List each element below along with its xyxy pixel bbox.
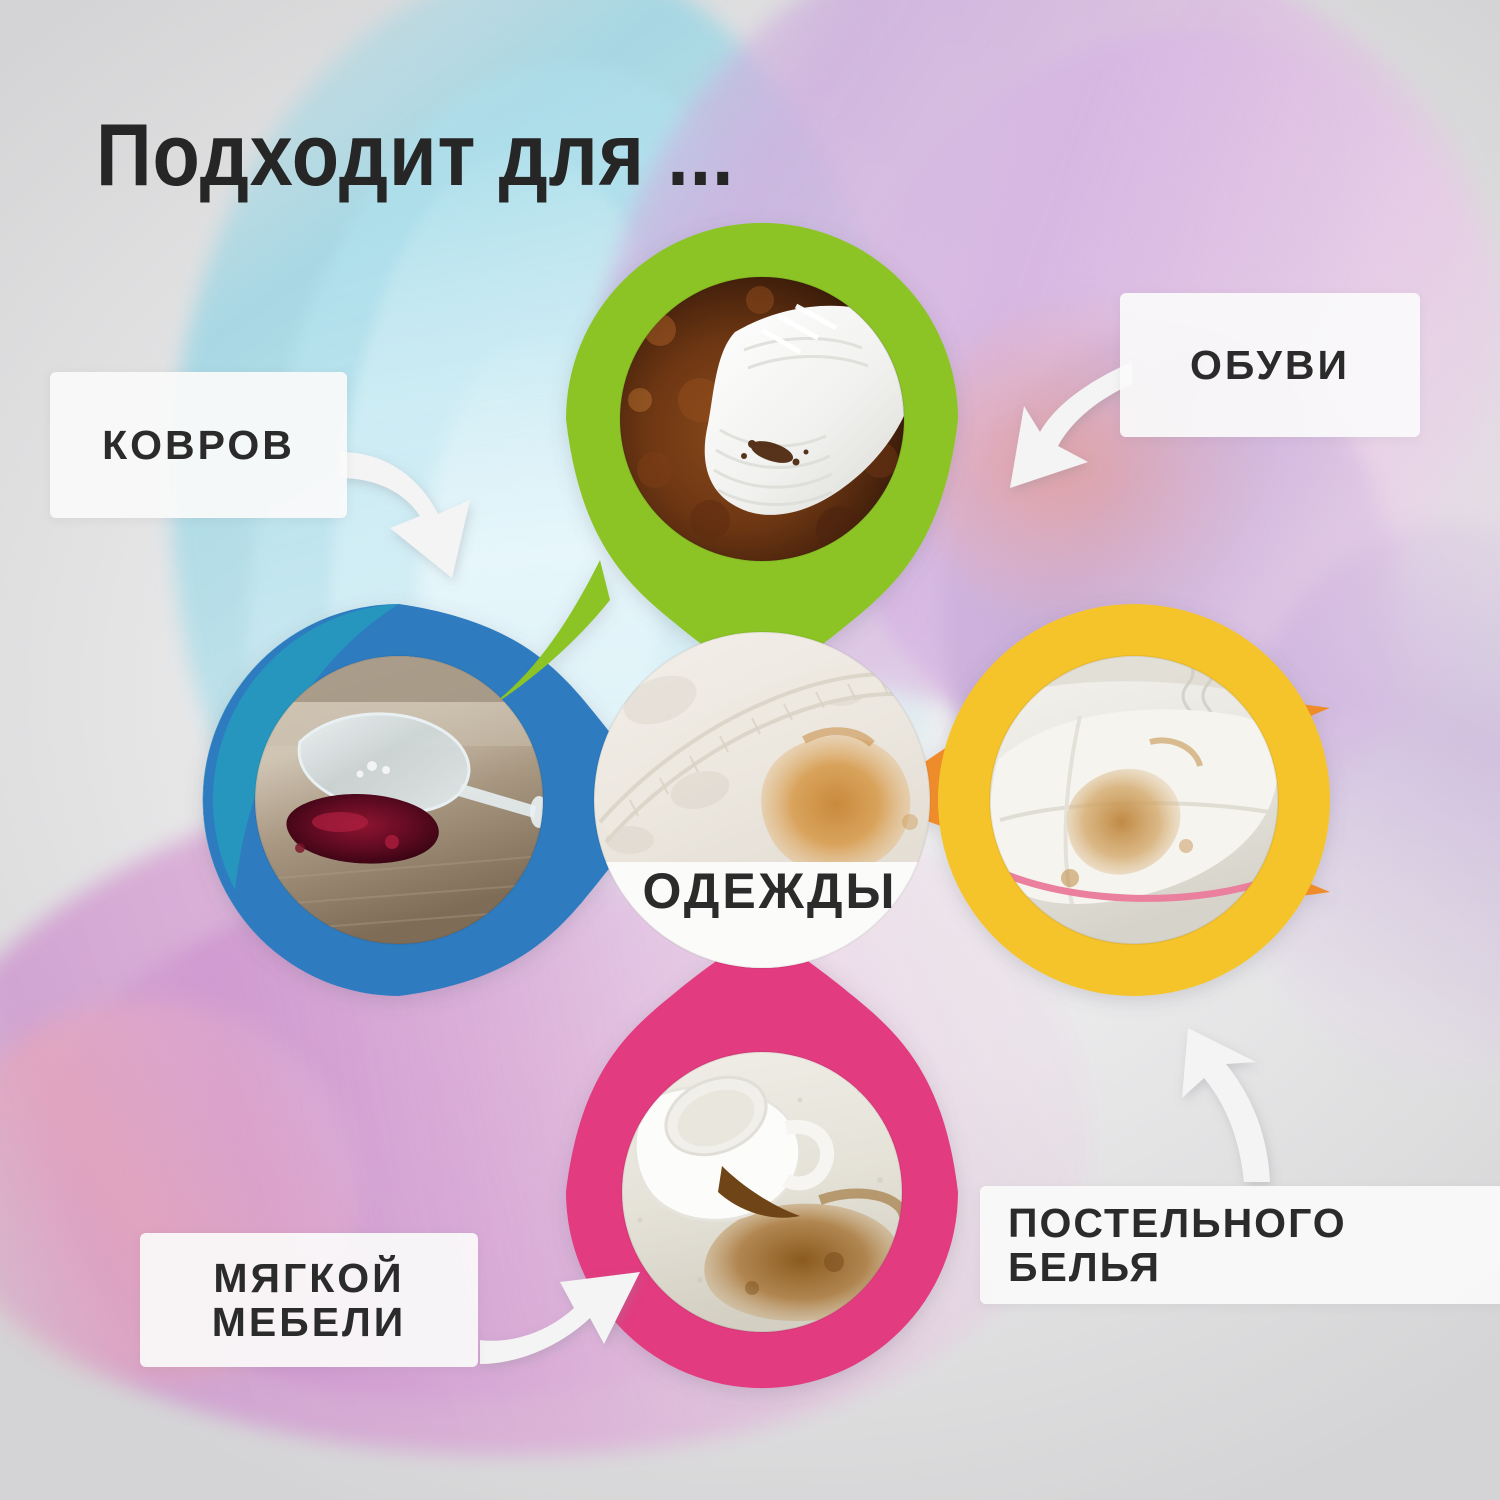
shoes-arrow xyxy=(1010,362,1132,488)
label-bedding-line1: ПОСТЕЛЬНОГО xyxy=(1008,1201,1347,1245)
carpets-arrow xyxy=(340,452,470,578)
label-furniture-line1: МЯГКОЙ xyxy=(212,1256,407,1300)
label-furniture-line2: МЕБЕЛИ xyxy=(212,1300,407,1344)
label-clothes: ОДЕЖДЫ xyxy=(620,862,920,920)
label-bedding[interactable]: ПОСТЕЛЬНОГО БЕЛЬЯ xyxy=(980,1186,1500,1304)
infographic-canvas: Подходит для ... xyxy=(0,0,1500,1500)
label-clothes-text: ОДЕЖДЫ xyxy=(643,863,898,919)
label-furniture[interactable]: МЯГКОЙ МЕБЕЛИ xyxy=(140,1233,478,1367)
furniture-arrow xyxy=(480,1272,640,1364)
bedding-arrow xyxy=(1182,1028,1270,1182)
label-carpets-text: КОВРОВ xyxy=(102,423,295,467)
label-bedding-line2: БЕЛЬЯ xyxy=(1008,1245,1347,1289)
label-shoes-text: ОБУВИ xyxy=(1190,343,1350,387)
label-carpets[interactable]: КОВРОВ xyxy=(50,372,347,518)
label-shoes[interactable]: ОБУВИ xyxy=(1120,293,1420,437)
